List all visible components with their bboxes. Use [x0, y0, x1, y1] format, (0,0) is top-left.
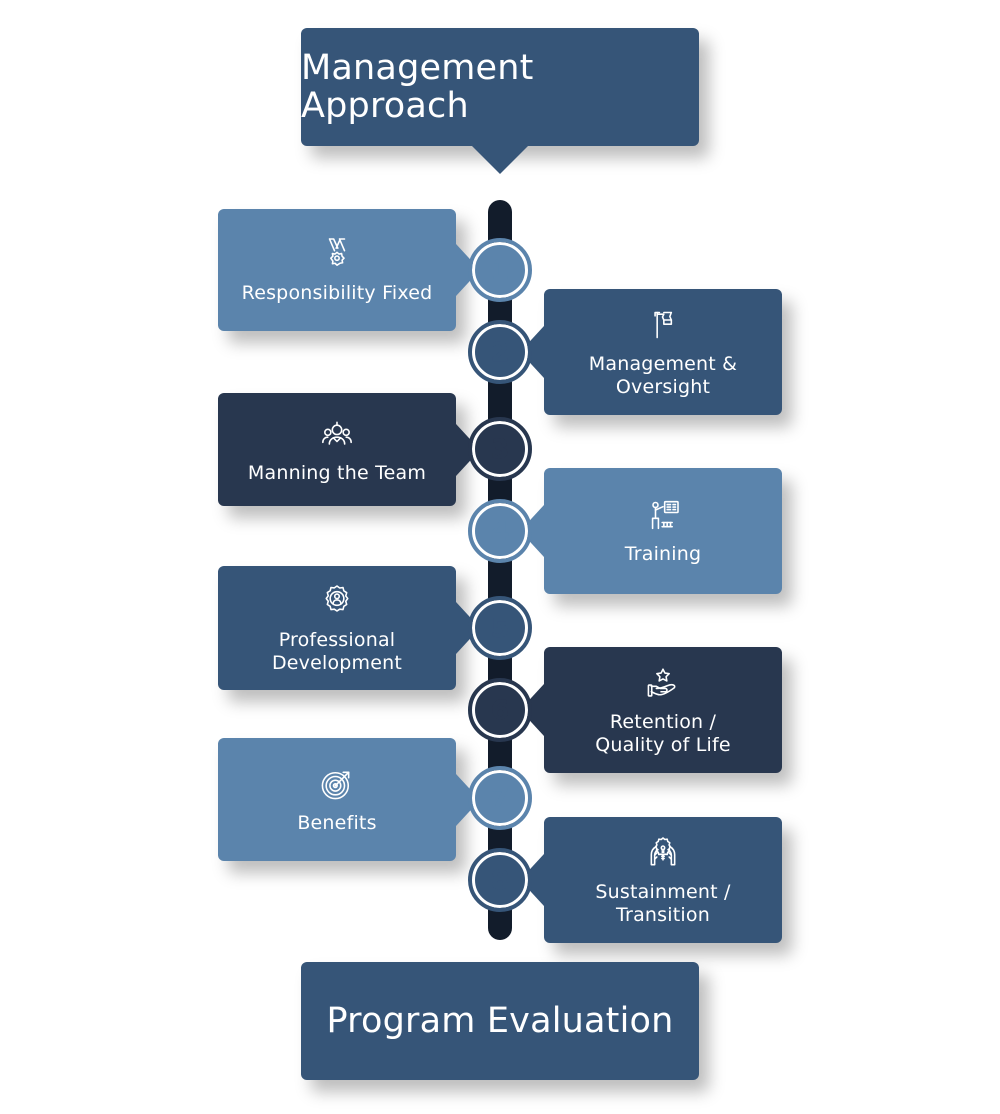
footer-banner[interactable]: Program Evaluation	[301, 962, 699, 1080]
step-number-4: 4	[491, 518, 510, 545]
hands-lightbulb-icon	[643, 833, 683, 873]
step-label-1: Responsibility Fixed	[242, 282, 433, 305]
gear-person-icon	[317, 581, 357, 621]
hand-star-icon	[643, 663, 683, 703]
step-card-6[interactable]: Retention / Quality of Life	[544, 647, 782, 773]
step-number-7: 7	[491, 785, 510, 812]
step-card-3[interactable]: Manning the Team	[218, 393, 456, 506]
step-label-5: Professional Development	[272, 629, 402, 675]
footer-title: Program Evaluation	[326, 1002, 673, 1041]
step-number-2: 2	[491, 339, 510, 366]
step-number-6: 6	[491, 697, 510, 724]
header-banner[interactable]: Management Approach	[301, 28, 699, 146]
step-label-4: Training	[625, 543, 702, 566]
training-presenter-icon	[643, 495, 683, 535]
medal-icon	[317, 234, 357, 274]
flag-icon	[643, 305, 683, 345]
step-label-6: Retention / Quality of Life	[595, 711, 731, 757]
step-number-8: 8	[491, 867, 510, 894]
step-card-4[interactable]: Training	[544, 468, 782, 594]
step-card-2[interactable]: Management & Oversight	[544, 289, 782, 415]
header-banner-pointer	[472, 146, 528, 174]
step-number-badge-8[interactable]: 8	[472, 852, 528, 908]
step-number-badge-7[interactable]: 7	[472, 770, 528, 826]
step-card-8[interactable]: Sustainment / Transition	[544, 817, 782, 943]
step-label-8: Sustainment / Transition	[595, 881, 730, 927]
step-number-badge-3[interactable]: 3	[472, 421, 528, 477]
target-arrow-icon	[317, 764, 357, 804]
step-number-badge-6[interactable]: 6	[472, 682, 528, 738]
team-icon	[317, 414, 357, 454]
step-label-2: Management & Oversight	[589, 353, 737, 399]
step-number-badge-2[interactable]: 2	[472, 324, 528, 380]
step-label-3: Manning the Team	[248, 462, 426, 485]
step-card-5[interactable]: Professional Development	[218, 566, 456, 690]
step-number-3: 3	[491, 436, 510, 463]
diagram-canvas: Management Approach Responsibility Fixed…	[0, 0, 1000, 1114]
step-number-1: 1	[491, 257, 510, 284]
step-number-badge-4[interactable]: 4	[472, 503, 528, 559]
step-number-5: 5	[491, 615, 510, 642]
step-number-badge-5[interactable]: 5	[472, 600, 528, 656]
step-label-7: Benefits	[297, 812, 376, 835]
step-card-7[interactable]: Benefits	[218, 738, 456, 861]
step-card-1[interactable]: Responsibility Fixed	[218, 209, 456, 331]
step-number-badge-1[interactable]: 1	[472, 242, 528, 298]
page-title: Management Approach	[301, 49, 699, 126]
